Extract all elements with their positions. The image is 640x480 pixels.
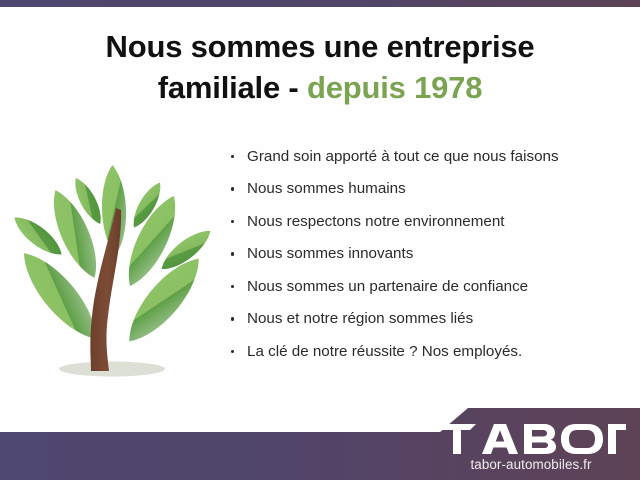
bullet-dot-icon [231,220,234,223]
list-item: La clé de notre réussite ? Nos employés. [228,343,628,361]
list-item: Nous sommes humains [228,180,628,198]
list-item: Nous sommes un partenaire de confiance [228,278,628,296]
bullet-dot-icon [231,155,234,158]
list-item-label: Nous respectons notre environnement [247,213,505,230]
list-item-label: La clé de notre réussite ? Nos employés. [247,343,522,360]
list-item: Nous respectons notre environnement [228,213,628,231]
list-item: Nous et notre région sommes liés [228,310,628,328]
bullet-dot-icon [231,350,234,353]
brand-logo[interactable]: tabor-automobiles.fr [436,422,626,472]
tree-icon [12,148,217,388]
list-item: Nous sommes innovants [228,245,628,263]
list-item-label: Nous sommes humains [247,180,406,197]
list-item-label: Grand soin apporté à tout ce que nous fa… [247,148,559,165]
bullet-dot-icon [231,317,234,320]
tree-shadow [59,362,165,377]
tabor-wordmark [436,422,626,456]
title-line-1: Nous sommes une entreprise [106,29,535,64]
list-item-label: Nous sommes innovants [247,245,413,262]
slide-canvas: Nous sommes une entreprise familiale - d… [0,0,640,480]
title-line-2-main: familiale - [158,70,299,105]
value-list: Grand soin apporté à tout ce que nous fa… [228,148,628,375]
brand-url: tabor-automobiles.fr [436,457,626,472]
list-item-label: Nous et notre région sommes liés [247,310,473,327]
bullet-dot-icon [231,285,234,288]
list-item: Grand soin apporté à tout ce que nous fa… [228,148,628,166]
title-line-2: familiale - depuis 1978 [0,67,640,108]
list-item-label: Nous sommes un partenaire de confiance [247,278,528,295]
footer-bar: tabor-automobiles.fr [0,400,640,480]
tree-illustration [12,148,217,388]
title-accent-since: depuis 1978 [307,70,482,105]
bullet-dot-icon [231,252,234,255]
page-title: Nous sommes une entreprise familiale - d… [0,26,640,108]
top-accent-bar [0,0,640,7]
bullet-dot-icon [231,187,234,190]
